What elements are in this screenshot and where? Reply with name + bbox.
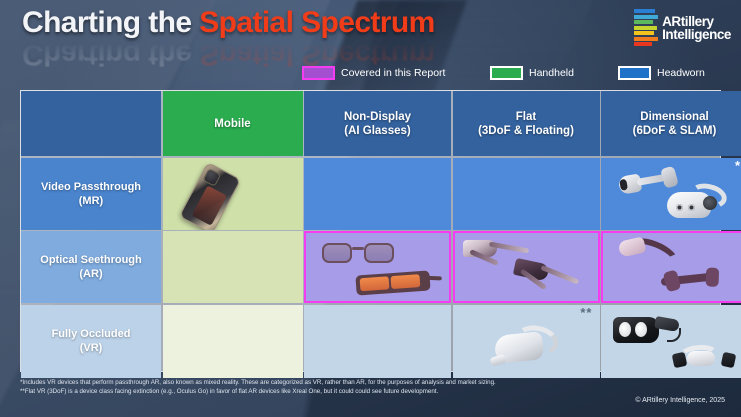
legend-swatch-headworn: [618, 66, 651, 80]
footnote-line-1: *Includes VR devices that perform passth…: [20, 378, 496, 387]
column-header-mobile: Mobile: [163, 91, 303, 156]
footnotes: *Includes VR devices that perform passth…: [20, 378, 496, 396]
smart-sunglasses-device-image: [355, 270, 430, 295]
cell-dimensional-ar: [601, 231, 741, 303]
black-vr-headset-device-image: [613, 315, 681, 347]
column-header-flat-line2: (3DoF & Floating): [478, 124, 574, 138]
legend-item-handheld: Handheld: [490, 66, 574, 80]
row-header-video-passthrough: Video Passthrough (MR): [21, 158, 161, 230]
legend-swatch-handheld: [490, 66, 523, 80]
column-header-dimensional: Dimensional (6DoF & SLAM): [601, 91, 741, 156]
column-header-non-display-line2: (AI Glasses): [344, 124, 411, 138]
title-accent: Spatial Spectrum: [199, 6, 434, 39]
legend-swatch-covered: [302, 66, 335, 80]
cell-flat-ar: [453, 231, 600, 303]
row-header-optical-seethrough-line1: Optical Seethrough: [40, 253, 141, 267]
legend-label-headworn: Headworn: [657, 67, 705, 79]
row-header-video-passthrough-line2: (MR): [41, 194, 141, 208]
cell-flat-vr: **: [453, 305, 600, 378]
row-header-fully-occluded-line1: Fully Occluded: [52, 327, 131, 341]
row-header-optical-seethrough-line2: (AR): [40, 267, 141, 281]
footnote-marker-single: *: [735, 161, 741, 171]
row-header-optical-seethrough: Optical Seethrough (AR): [21, 231, 161, 303]
footnote-line-2: **Flat VR (3DoF) is a device class facin…: [20, 387, 496, 396]
copyright-notice: © ARtillery Intelligence, 2025: [635, 397, 725, 404]
column-header-dimensional-line1: Dimensional: [633, 110, 717, 124]
column-header-flat-line1: Flat: [478, 110, 574, 124]
table-corner-cell: [21, 91, 161, 156]
legend-label-covered: Covered in this Report: [341, 67, 445, 79]
row-header-video-passthrough-line1: Video Passthrough: [41, 180, 141, 194]
spatial-spectrum-matrix: Mobile Non-Display (AI Glasses) Flat (3D…: [20, 90, 721, 372]
row-header-fully-occluded: Fully Occluded (VR): [21, 305, 161, 378]
cell-non-display-ar: [304, 231, 451, 303]
legend-item-covered: Covered in this Report: [302, 66, 445, 80]
legend-item-headworn: Headworn: [618, 66, 705, 80]
artillery-logo: ARtillery Intelligence: [634, 9, 731, 46]
cell-non-display-vr: [304, 305, 451, 378]
cell-dimensional-vr: [601, 305, 741, 378]
oculus-go-device-image: [487, 323, 563, 370]
row-header-fully-occluded-line2: (VR): [52, 341, 131, 355]
column-header-non-display-line1: Non-Display: [344, 110, 411, 124]
cell-mobile-ar: [163, 231, 303, 303]
column-header-non-display: Non-Display (AI Glasses): [304, 91, 451, 156]
column-header-flat: Flat (3DoF & Floating): [453, 91, 600, 156]
smartphone-device-image: [178, 161, 241, 229]
legend-label-handheld: Handheld: [529, 67, 574, 79]
ar-glasses-dark-device-image: [510, 258, 576, 296]
smart-glasses-front-device-image: [322, 243, 394, 265]
column-header-mobile-line1: Mobile: [214, 117, 250, 131]
page-title: Charting the Spatial Spectrum Charting t…: [22, 8, 435, 38]
cell-dimensional-mr: *: [601, 158, 741, 230]
column-header-dimensional-line2: (6DoF & SLAM): [633, 124, 717, 138]
logo-text: ARtillery Intelligence: [662, 15, 731, 41]
ar-headband-device-image: [617, 238, 683, 272]
quest-headset-device-image: [667, 184, 727, 220]
psvr-headset-device-image: [673, 343, 735, 371]
cell-mobile-mr: [163, 158, 303, 230]
ar-visor-bar-device-image: [660, 266, 720, 294]
title-plain: Charting the: [22, 6, 199, 39]
logo-line-2: Intelligence: [662, 28, 731, 41]
logo-bars-icon: [634, 9, 658, 46]
cell-flat-mr: [453, 158, 600, 230]
cell-non-display-mr: [304, 158, 451, 230]
footnote-marker-double: **: [580, 308, 592, 318]
logo-line-1: ARtillery: [662, 15, 731, 28]
cell-mobile-vr: [163, 305, 303, 378]
